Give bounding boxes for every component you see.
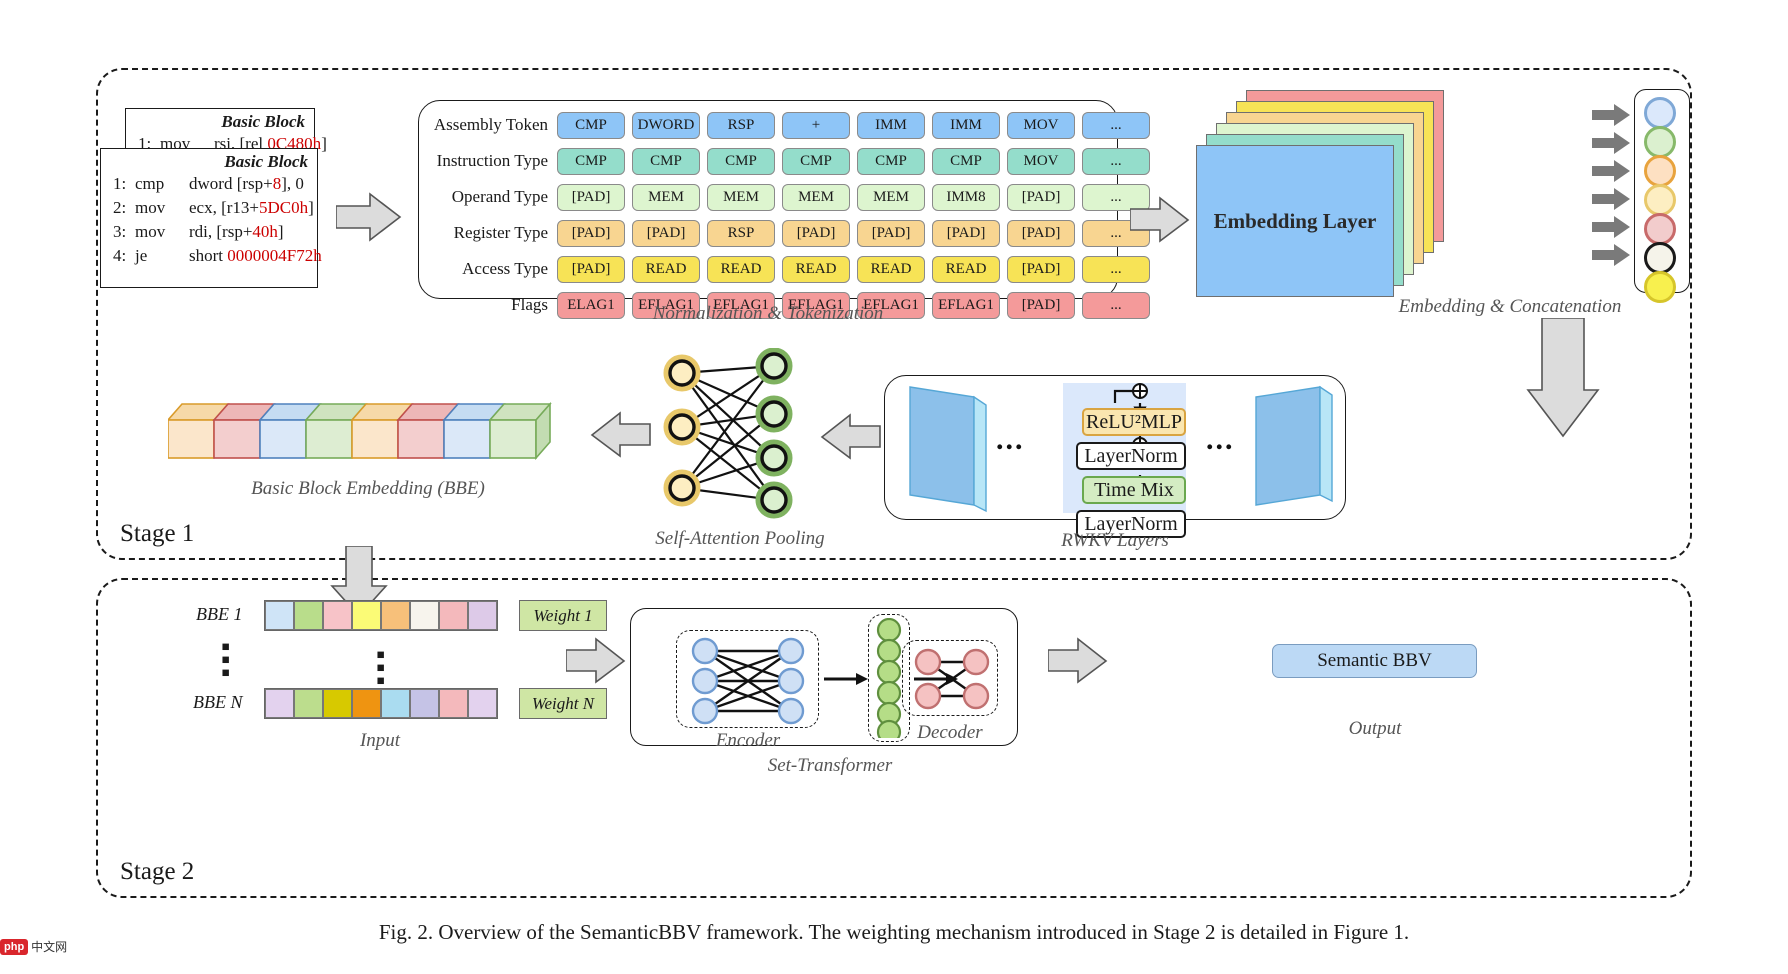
bbe-row-n [264, 688, 498, 719]
token-cell: [PAD] [1007, 220, 1075, 247]
token-row-label: Register Type [422, 223, 557, 243]
token-cell: ... [1082, 256, 1150, 283]
input-caption: Input [290, 730, 470, 752]
decoder-caption: Decoder [890, 722, 1010, 744]
rwkv-left-ellipsis: ... [996, 423, 1025, 457]
token-row-label: Access Type [422, 259, 557, 279]
bbe-cell [381, 689, 410, 718]
tokenization-rows: Assembly Token CMP DWORD RSP + IMM IMM M… [422, 110, 1116, 326]
arrow-tokens-to-embedding [1130, 195, 1190, 247]
arrow-encoder-to-latent [824, 672, 868, 686]
token-cell: [PAD] [632, 220, 700, 247]
embedding-sheet-assembly: Embedding Layer [1196, 145, 1394, 297]
rwkv-right-ellipsis: ... [1206, 423, 1235, 457]
token-cell: READ [932, 256, 1000, 283]
token-cell: IMM8 [932, 184, 1000, 211]
concatenated-embedding-column [1634, 89, 1690, 293]
token-row: Register Type [PAD] [PAD] RSP [PAD] [PAD… [422, 218, 1116, 248]
token-cell: MEM [857, 184, 925, 211]
stage1-label: Stage 1 [120, 520, 194, 548]
php-badge: php [0, 939, 28, 955]
token-row-label: Operand Type [422, 187, 557, 207]
token-row: Instruction Type CMP CMP CMP CMP CMP CMP… [422, 146, 1116, 176]
arrow-block-to-tokens [336, 190, 402, 246]
bbe-cell [468, 601, 497, 630]
basic-block-card-front: Basic Block 1:cmpdword [rsp+8], 0 2:move… [100, 148, 318, 288]
embedding-circle-3 [1644, 155, 1676, 187]
rwkv-output-plane [1248, 383, 1348, 513]
bbe-cell [468, 689, 497, 718]
embedding-circle-1 [1644, 97, 1676, 129]
token-cell: ... [1082, 292, 1150, 319]
token-cell: CMP [632, 148, 700, 175]
embedding-layer-label: Embedding Layer [1214, 209, 1377, 234]
weight-1-box: Weight 1 [519, 600, 607, 631]
figure-caption: Fig. 2. Overview of the SemanticBBV fram… [0, 920, 1788, 945]
token-cell: IMM [932, 112, 1000, 139]
encoder-graph [683, 635, 813, 725]
token-cell: MEM [782, 184, 850, 211]
token-row-label: Flags [422, 295, 557, 315]
token-cell: [PAD] [1007, 184, 1075, 211]
basic-block-title-front: Basic Block [101, 149, 317, 172]
token-cell: READ [857, 256, 925, 283]
arrow-rwkv-to-pooling [820, 412, 882, 464]
token-cell: MEM [632, 184, 700, 211]
arrow-set-transformer-to-output [1048, 636, 1108, 688]
token-cell: CMP [557, 112, 625, 139]
basic-block-line-1: 1:cmpdword [rsp+8], 0 [101, 172, 317, 196]
bbe-cell [323, 601, 352, 630]
rwkv-relu2-mlp-node: ReLU²MLP [1082, 408, 1186, 436]
token-cell: + [782, 112, 850, 139]
bbe-cell [439, 601, 468, 630]
basic-block-line-2: 2:movecx, [r13+5DC0h] [101, 196, 317, 220]
token-cell: [PAD] [557, 220, 625, 247]
token-cell: [PAD] [857, 220, 925, 247]
arrow-embedding-to-rwkv [1498, 318, 1608, 458]
token-cell: [PAD] [557, 256, 625, 283]
bbe-cell [410, 601, 439, 630]
embedding-caption: Embedding & Concatenation [1350, 296, 1670, 318]
bbe-cell [265, 601, 294, 630]
stage2-label: Stage 2 [120, 858, 194, 886]
rwkv-caption: RWKV Layers [1025, 530, 1205, 552]
bbe-row-n-label: BBE N [193, 692, 243, 713]
token-cell: RSP [707, 220, 775, 247]
token-cell: RSP [707, 112, 775, 139]
token-row: Assembly Token CMP DWORD RSP + IMM IMM M… [422, 110, 1116, 140]
rwkv-input-plane [902, 383, 1002, 513]
token-cell: MOV [1007, 148, 1075, 175]
token-cell: CMP [857, 148, 925, 175]
bbe-cell [323, 689, 352, 718]
weight-n-box: Weight N [519, 688, 607, 719]
token-cell: MOV [1007, 112, 1075, 139]
encoder-caption: Encoder [688, 730, 808, 752]
bbe-cell [352, 601, 381, 630]
bbe-cell [265, 689, 294, 718]
bbe-caption: Basic Block Embedding (BBE) [228, 478, 508, 500]
token-row-label: Assembly Token [422, 115, 557, 135]
token-row: Access Type [PAD] READ READ READ READ RE… [422, 254, 1116, 284]
basic-block-embedding-cubes [168, 398, 558, 468]
bbe-cell [352, 689, 381, 718]
decoder-graph [910, 648, 994, 710]
bbe-label-ellipsis: ▪▪▪ [221, 640, 230, 679]
token-cell: CMP [932, 148, 1000, 175]
set-transformer-caption: Set-Transformer [730, 755, 930, 777]
basic-block-line-3: 3:movrdi, [rsp+40h] [101, 220, 317, 244]
arrow-pooling-to-bbe [590, 410, 652, 462]
embedding-circle-2 [1644, 126, 1676, 158]
token-cell: IMM [857, 112, 925, 139]
semantic-bbv-output: Semantic BBV [1272, 644, 1477, 678]
token-cell: CMP [557, 148, 625, 175]
token-cell: [PAD] [557, 184, 625, 211]
arrow-input-to-set-transformer [566, 636, 626, 688]
embedding-circle-5 [1644, 213, 1676, 245]
token-cell: READ [782, 256, 850, 283]
token-cell: ... [1082, 112, 1150, 139]
watermark: php 中文网 [0, 938, 67, 955]
embedding-circle-4 [1644, 184, 1676, 216]
token-row: Operand Type [PAD] MEM MEM MEM MEM IMM8 … [422, 182, 1116, 212]
token-cell: ... [1082, 148, 1150, 175]
rwkv-time-mix-node: Time Mix [1082, 476, 1186, 504]
token-cell: [PAD] [782, 220, 850, 247]
output-caption: Output [1315, 718, 1435, 740]
embedding-circle-6 [1644, 242, 1676, 274]
token-cell: MEM [707, 184, 775, 211]
token-cell: [PAD] [932, 220, 1000, 247]
pooling-caption: Self-Attention Pooling [640, 528, 840, 550]
php-watermark-text: 中文网 [31, 938, 67, 955]
bbe-cell [381, 601, 410, 630]
self-attention-pooling-graph [660, 348, 800, 520]
bbe-row-1 [264, 600, 498, 631]
token-cell: CMP [707, 148, 775, 175]
bbe-cell [439, 689, 468, 718]
bbe-cell [294, 689, 323, 718]
bbe-cell [294, 601, 323, 630]
token-cell: CMP [782, 148, 850, 175]
embedding-stack: Embedding Layer [1196, 90, 1446, 300]
bbe-row-ellipsis: ▪▪▪ [376, 648, 385, 687]
token-cell: [PAD] [1007, 256, 1075, 283]
latent-nodes [872, 618, 906, 738]
rwkv-layernorm-top-node: LayerNorm [1076, 442, 1186, 470]
token-row-label: Instruction Type [422, 151, 557, 171]
token-cell: READ [632, 256, 700, 283]
bbe-cell [410, 689, 439, 718]
basic-block-title-back: Basic Block [126, 109, 314, 132]
token-cell: READ [707, 256, 775, 283]
token-cell: ELAG1 [557, 292, 625, 319]
bbe-cube [490, 404, 550, 458]
token-cell: DWORD [632, 112, 700, 139]
token-cell: EFLAG1 [932, 292, 1000, 319]
bbe-row-1-label: BBE 1 [196, 604, 243, 625]
token-cell: [PAD] [1007, 292, 1075, 319]
basic-block-line-4: 4:jeshort 0000004F72h [101, 244, 317, 268]
tokenization-caption: Normalization & Tokenization [618, 303, 918, 325]
